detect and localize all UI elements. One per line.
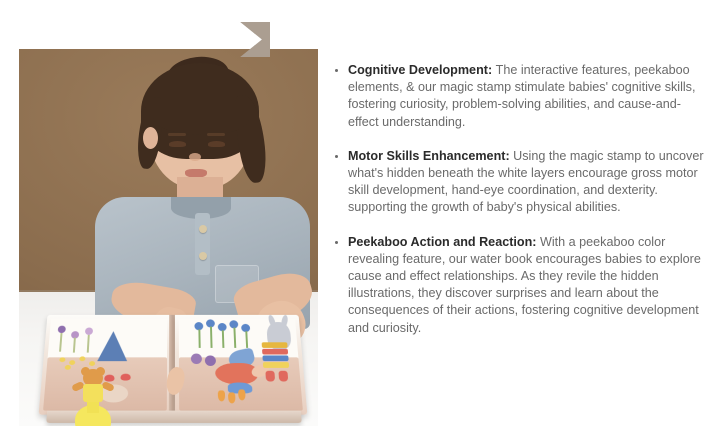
stamp-bear-figure <box>71 367 115 409</box>
bullet-heading: Cognitive Development: <box>348 63 496 77</box>
page-title: Developmental Values <box>0 30 213 50</box>
bullet-dot-icon <box>335 69 338 72</box>
bullet-heading: Motor Skills Enhancement: <box>348 149 513 163</box>
features-list: Cognitive Development: The interactive f… <box>333 62 711 337</box>
product-feature-slide: Developmental Values <box>0 0 720 445</box>
list-item: Motor Skills Enhancement: Using the magi… <box>333 148 711 217</box>
pointing-finger <box>164 366 186 397</box>
bear-arm <box>101 381 115 392</box>
bullet-heading: Peekaboo Action and Reaction: <box>348 235 540 249</box>
list-item: Cognitive Development: The interactive f… <box>333 62 711 131</box>
bear-body <box>83 384 103 402</box>
bullet-body: With a peekaboo color revealing feature,… <box>348 235 701 335</box>
product-photo: 18m+ <box>19 49 318 426</box>
list-item: Peekaboo Action and Reaction: With a pee… <box>333 234 711 337</box>
bullet-dot-icon <box>335 155 338 158</box>
bullet-dot-icon <box>335 241 338 244</box>
magic-stamp <box>63 367 123 426</box>
